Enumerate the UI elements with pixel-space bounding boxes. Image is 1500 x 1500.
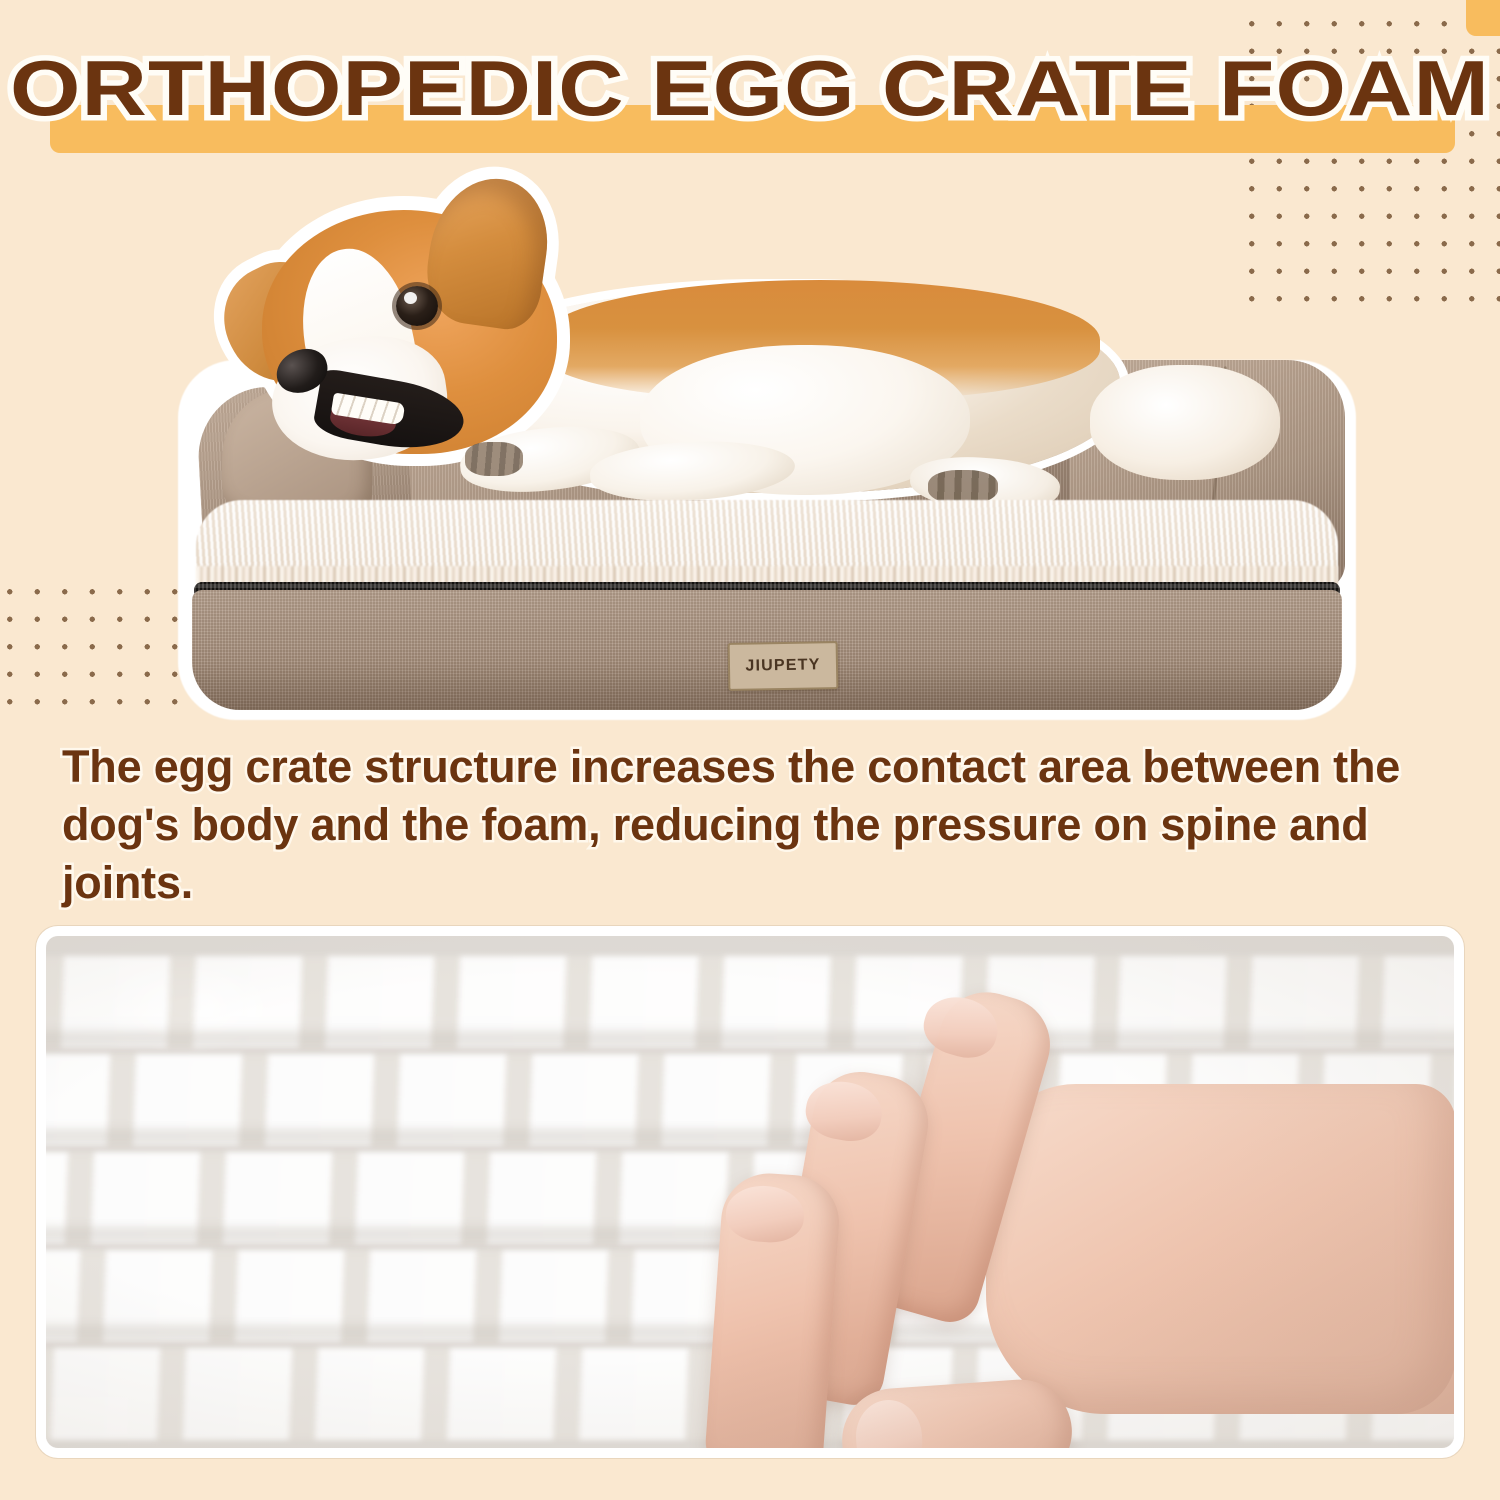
dog-paw-pads: [465, 442, 523, 476]
egg-crate-foam-photo: [36, 926, 1464, 1458]
page-title: ORTHOPEDIC EGG CRATE FOAM: [0, 40, 1500, 136]
hero-product-image: JIUPETY: [170, 170, 1360, 730]
dog-eye-highlight: [404, 292, 417, 304]
dog-rear-paw-pads: [928, 470, 998, 504]
dog-eye: [396, 286, 438, 326]
dog-rear-white-fur: [1090, 365, 1280, 480]
brand-label-text: JIUPETY: [745, 656, 820, 675]
brand-label-tag: JIUPETY: [728, 641, 839, 691]
page-title-block: ORTHOPEDIC EGG CRATE FOAM: [0, 40, 1500, 150]
dot-pattern-left: [0, 574, 184, 724]
description-paragraph: The egg crate structure increases the co…: [62, 738, 1462, 912]
photo-vignette: [46, 936, 1454, 1448]
corgi-dog: [210, 170, 1270, 530]
orange-corner-accent: [1466, 0, 1500, 36]
